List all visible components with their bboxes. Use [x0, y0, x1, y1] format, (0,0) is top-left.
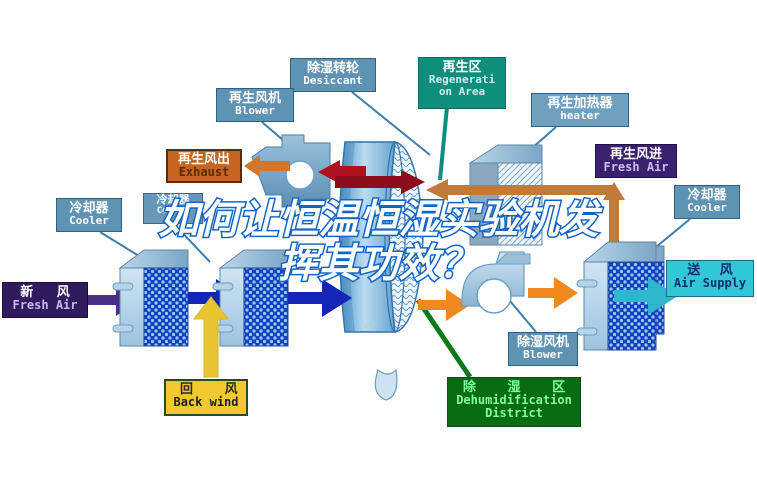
label-en: Desiccant — [291, 75, 375, 87]
label-regeneration-heater[interactable]: 再生加热器 heater — [531, 93, 629, 127]
label-cn: 再生区 — [419, 60, 505, 74]
label-cn: 再生风机 — [217, 91, 293, 105]
label-dehumidification-district[interactable]: 除 湿 区 Dehumidification District — [447, 377, 581, 427]
label-cn: 再生加热器 — [532, 96, 628, 110]
label-cn: 再生风进 — [596, 147, 676, 161]
headline-line-2: 挥其功效？ — [0, 242, 757, 286]
label-cn: 除 湿 区 — [448, 380, 580, 394]
label-en: Back wind — [166, 396, 246, 409]
label-en: Fresh Air — [3, 299, 87, 312]
dehumidification-leader — [418, 300, 470, 377]
label-en-line2: District — [448, 407, 580, 420]
diagram-canvas: 除湿转轮 Desiccant 再生风机 Blower 再生区 Regenerat… — [0, 0, 757, 488]
label-cn: 新 风 — [3, 285, 87, 299]
label-exhaust[interactable]: 再生风出 Exhaust — [166, 149, 242, 183]
label-cn: 再生风出 — [168, 152, 240, 166]
label-regeneration-blower[interactable]: 再生风机 Blower — [216, 88, 294, 122]
label-en: heater — [532, 110, 628, 122]
label-cn: 回 风 — [166, 382, 246, 396]
watermark-text: XT — [362, 322, 376, 334]
regeneration-area-leader — [440, 107, 447, 180]
label-regeneration-area[interactable]: 再生区 Regenerati on Area — [418, 57, 506, 109]
label-fresh-air-in[interactable]: 新 风 Fresh Air — [2, 282, 88, 318]
label-cn: 除湿转轮 — [291, 61, 375, 75]
label-en: Blower — [509, 349, 577, 361]
label-en: Exhaust — [168, 166, 240, 179]
label-dehumidify-blower[interactable]: 除湿风机 Blower — [508, 332, 578, 366]
label-back-wind[interactable]: 回 风 Back wind — [164, 379, 248, 416]
label-regeneration-fresh-air-in[interactable]: 再生风进 Fresh Air — [595, 144, 677, 178]
label-cn: 除湿风机 — [509, 335, 577, 349]
label-en-line2: on Area — [419, 86, 505, 98]
label-en: Blower — [217, 105, 293, 117]
label-en: Fresh Air — [596, 161, 676, 174]
label-desiccant-rotor[interactable]: 除湿转轮 Desiccant — [290, 58, 376, 92]
overlay-headline: 如何让恒温恒湿实验机发 挥其功效？ — [0, 198, 757, 286]
headline-line-1: 如何让恒温恒湿实验机发 — [0, 198, 757, 242]
